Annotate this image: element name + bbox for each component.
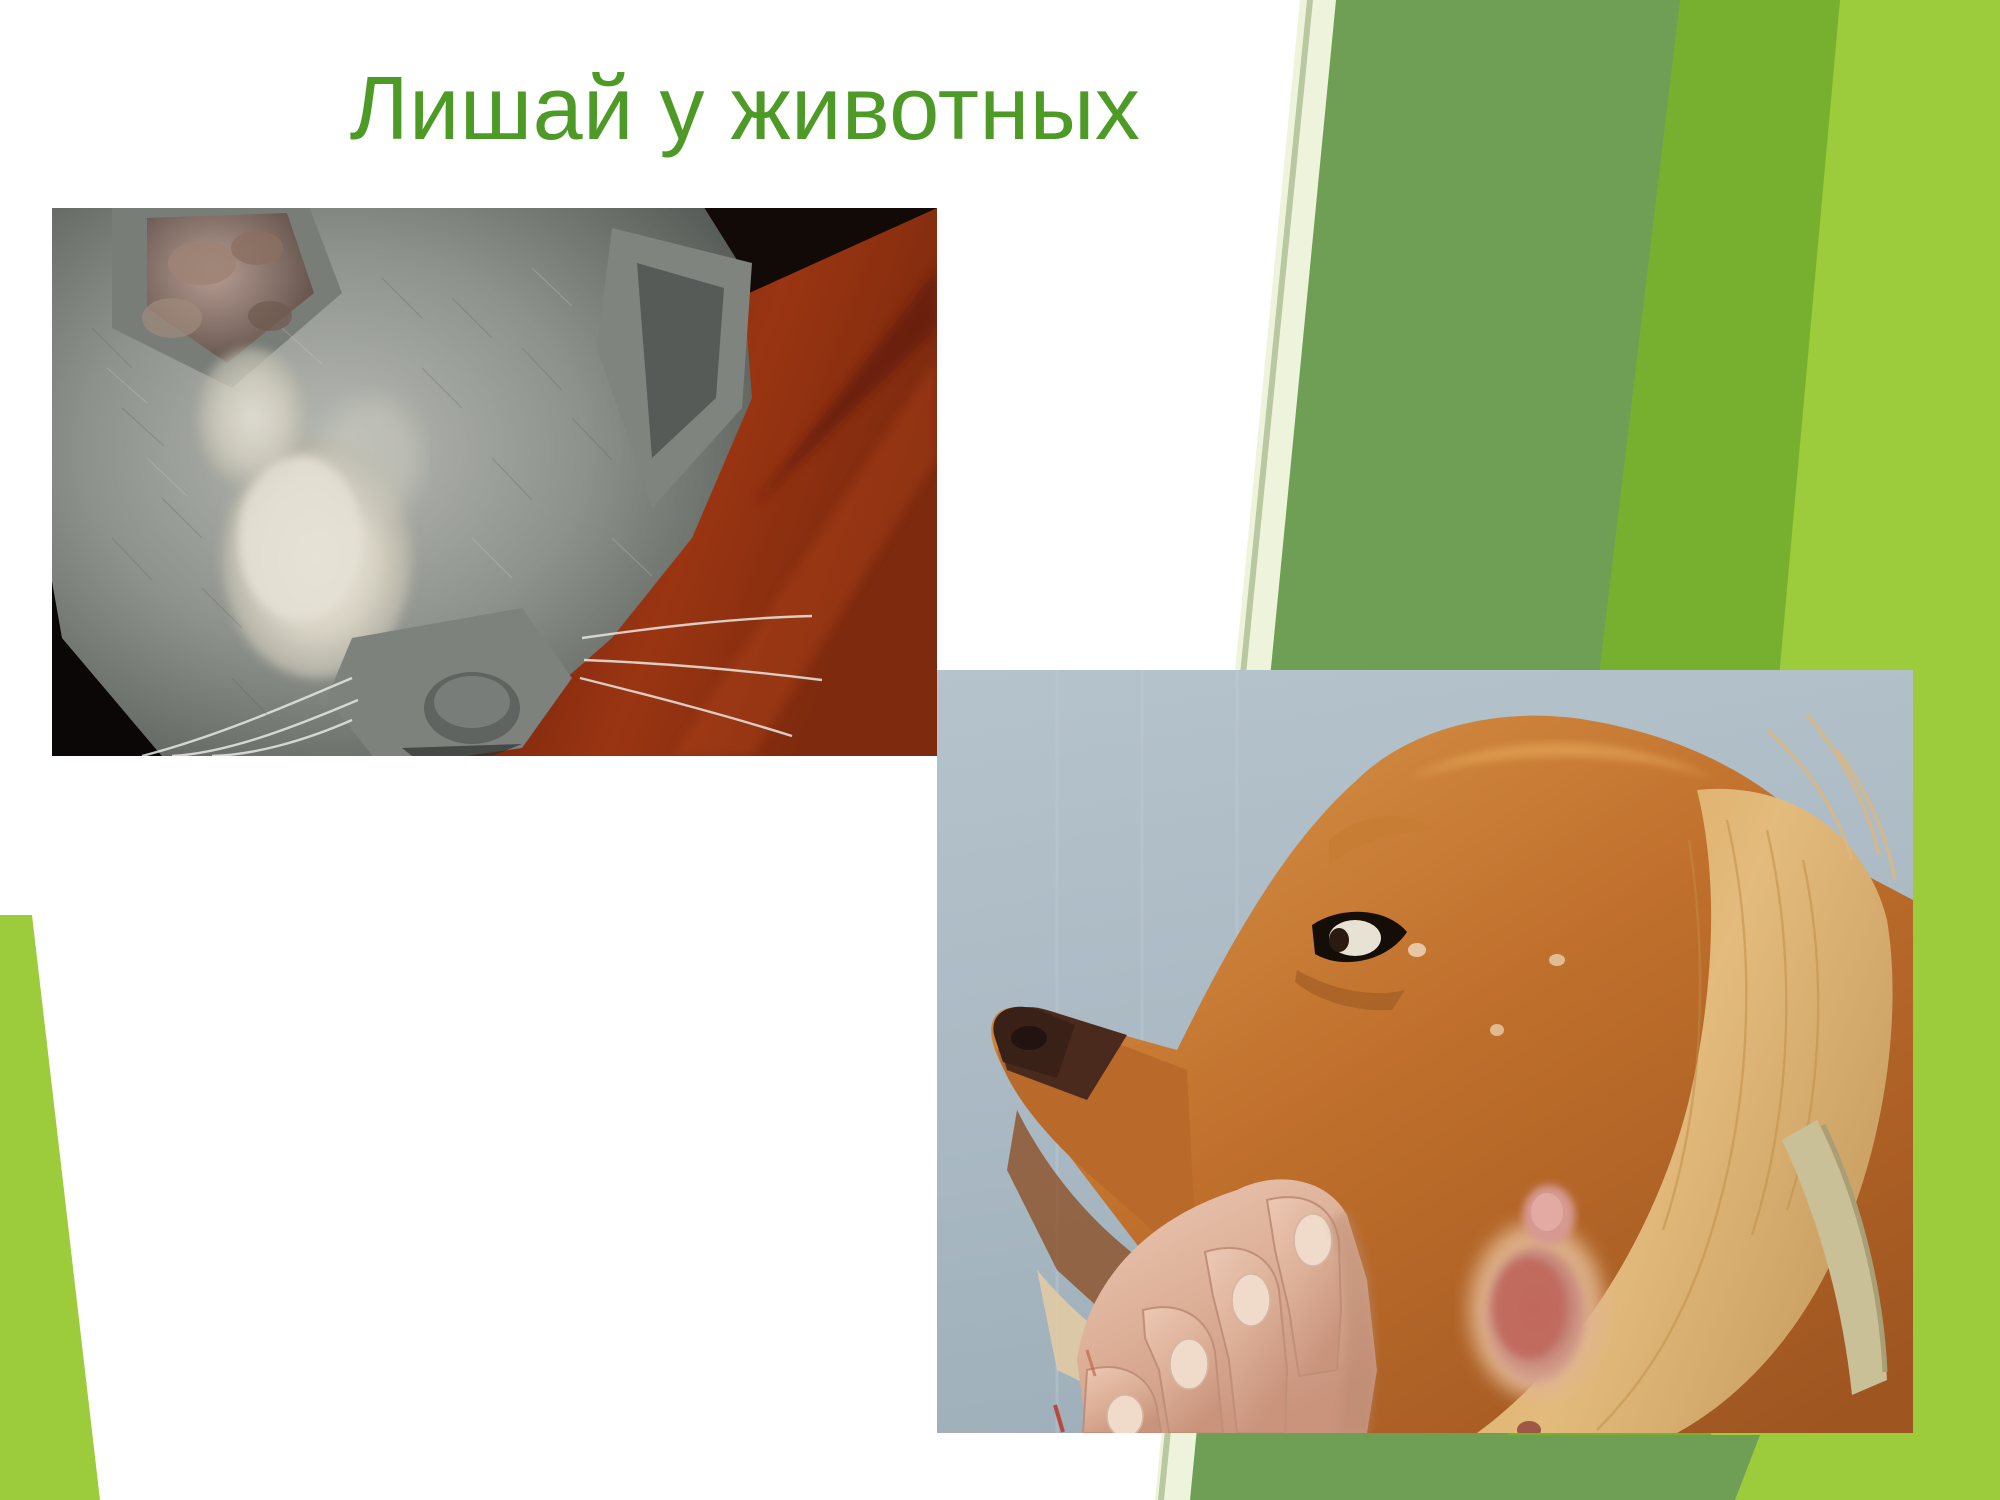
slide-title: Лишай у животных bbox=[120, 62, 1370, 157]
cat-ringworm-photo bbox=[52, 208, 937, 756]
dog-ringworm-photo bbox=[937, 670, 1913, 1433]
presentation-slide: Лишай у животных bbox=[0, 0, 2000, 1500]
wedge-bottom-right-light bbox=[1735, 1435, 2000, 1500]
wedge-bottom-left bbox=[0, 915, 100, 1500]
wedge-bottom-right bbox=[1440, 1435, 1790, 1500]
